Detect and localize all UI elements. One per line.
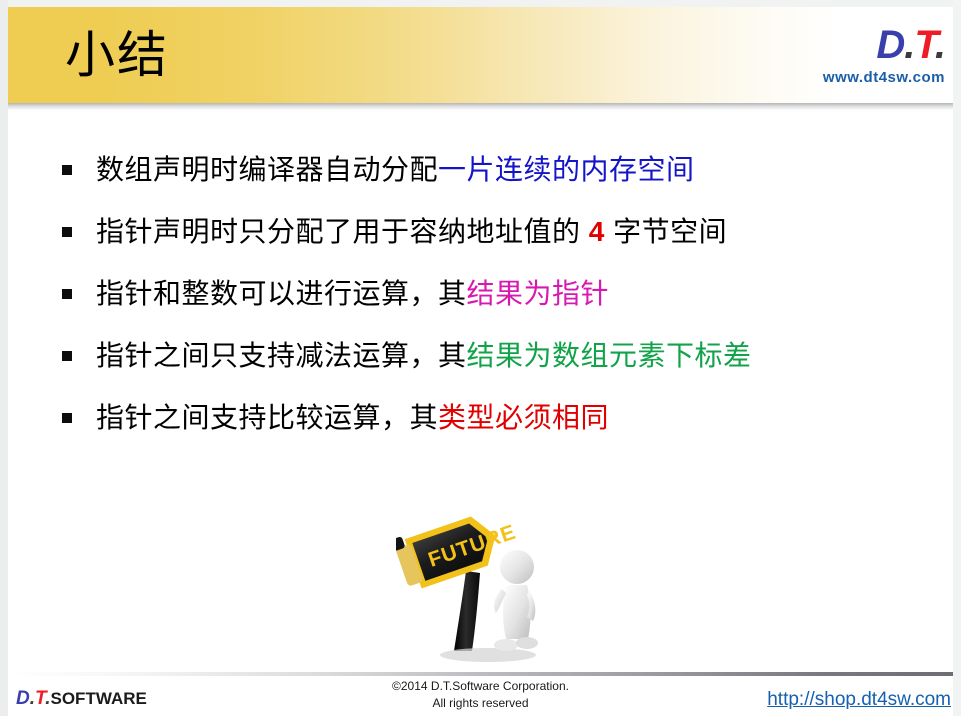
- slide-footer: D.T.SOFTWARE ©2014 D.T.Software Corporat…: [8, 676, 953, 716]
- brand-logo-mark: D.T.: [779, 23, 945, 67]
- square-bullet-icon: [62, 289, 72, 299]
- brand-logo: D.T. www.dt4sw.com: [779, 23, 945, 86]
- list-item: 指针之间只支持减法运算，其结果为数组元素下标差: [62, 336, 902, 376]
- square-bullet-icon: [62, 413, 72, 423]
- slide-edge-top: [0, 0, 961, 7]
- bullet-list: 数组声明时编译器自动分配一片连续的内存空间 指针声明时只分配了用于容纳地址值的 …: [62, 150, 902, 460]
- square-bullet-icon: [62, 165, 72, 175]
- bullet-text: 指针声明时只分配了用于容纳地址值的 4 字节空间: [96, 212, 727, 252]
- bullet-segment: 指针和整数可以进行运算，其: [96, 278, 467, 309]
- bullet-segment: 指针之间支持比较运算，其: [96, 402, 438, 433]
- header-drop-shadow: [8, 103, 953, 112]
- list-item: 指针声明时只分配了用于容纳地址值的 4 字节空间: [62, 212, 902, 252]
- bullet-segment: 指针之间只支持减法运算，其: [96, 340, 467, 371]
- bullet-text: 指针和整数可以进行运算，其结果为指针: [96, 274, 609, 314]
- slide-header: 小结 D.T. www.dt4sw.com: [8, 7, 953, 104]
- bullet-segment-highlight: 结果为指针: [467, 278, 610, 309]
- bullet-segment: 字节空间: [605, 216, 727, 247]
- brand-letter-d: D: [876, 23, 904, 67]
- presentation-slide: 小结 D.T. www.dt4sw.com 数组声明时编译器自动分配一片连续的内…: [0, 0, 961, 716]
- future-signpost-illustration: FUTURE: [396, 497, 568, 665]
- brand-dot-two: .: [935, 23, 945, 67]
- bullet-segment-highlight: 4: [589, 216, 605, 247]
- brand-dot-one: .: [904, 23, 914, 67]
- bullet-text: 指针之间支持比较运算，其类型必须相同: [96, 398, 609, 438]
- signpost-pole: [454, 571, 480, 651]
- bullet-segment-highlight: 结果为数组元素下标差: [467, 340, 752, 371]
- brand-website-url[interactable]: www.dt4sw.com: [779, 69, 945, 86]
- list-item: 指针之间支持比较运算，其类型必须相同: [62, 398, 902, 438]
- bullet-text: 指针之间只支持减法运算，其结果为数组元素下标差: [96, 336, 752, 376]
- list-item: 指针和整数可以进行运算，其结果为指针: [62, 274, 902, 314]
- bullet-segment: 数组声明时编译器自动分配: [96, 154, 438, 185]
- page-title: 小结: [65, 24, 169, 86]
- square-bullet-icon: [62, 227, 72, 237]
- list-item: 数组声明时编译器自动分配一片连续的内存空间: [62, 150, 902, 190]
- square-bullet-icon: [62, 351, 72, 361]
- slide-edge-right: [953, 0, 961, 716]
- figure-3d: [494, 550, 538, 651]
- shop-url-link[interactable]: http://shop.dt4sw.com: [767, 688, 951, 712]
- bullet-segment: 指针声明时只分配了用于容纳地址值的: [96, 216, 589, 247]
- bullet-segment-highlight: 类型必须相同: [438, 402, 609, 433]
- future-sign: FUTURE: [396, 501, 523, 593]
- slide-edge-left: [0, 0, 8, 716]
- bullet-text: 数组声明时编译器自动分配一片连续的内存空间: [96, 150, 695, 190]
- bullet-segment-highlight: 一片连续的内存空间: [438, 154, 695, 185]
- brand-letter-t: T: [914, 23, 934, 67]
